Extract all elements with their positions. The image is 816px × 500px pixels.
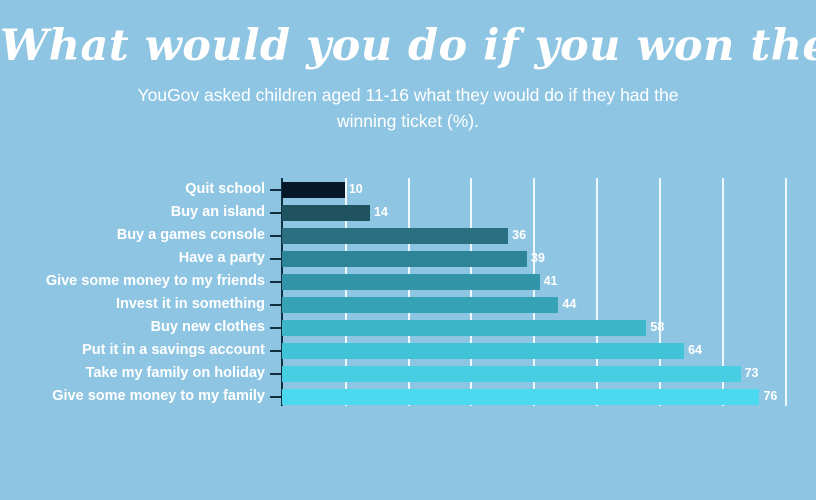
bar-value-label: 73 — [745, 367, 759, 380]
bar-chart-plot-area: Quit school10Buy an island14Buy a games … — [0, 172, 816, 412]
y-axis-tick — [270, 327, 282, 329]
y-axis-tick — [270, 350, 282, 352]
chart-subtitle: YouGov asked children aged 11-16 what th… — [108, 69, 708, 134]
bar-row: Invest it in something44 — [0, 293, 816, 316]
bar-value-label: 64 — [688, 344, 702, 357]
bar — [282, 274, 540, 290]
bar — [282, 389, 759, 405]
bar-container: 73 — [282, 362, 816, 385]
bar-category-label: Buy a games console — [0, 228, 265, 243]
bar-container: 44 — [282, 293, 816, 316]
bar-category-label: Take my family on holiday — [0, 366, 265, 381]
chart-header: What would you do if you won the lottery… — [0, 0, 816, 134]
bar-value-label: 41 — [544, 275, 558, 288]
bar-category-label: Give some money to my friends — [0, 274, 265, 289]
bar-container: 39 — [282, 247, 816, 270]
bar-container: 14 — [282, 201, 816, 224]
bar — [282, 366, 741, 382]
y-axis-tick — [270, 235, 282, 237]
bar-category-label: Buy an island — [0, 205, 265, 220]
bar — [282, 297, 558, 313]
bar-value-label: 36 — [512, 229, 526, 242]
y-axis-tick — [270, 258, 282, 260]
y-axis-tick — [270, 396, 282, 398]
y-axis-tick — [270, 212, 282, 214]
bar-row: Have a party39 — [0, 247, 816, 270]
bar-category-label: Quit school — [0, 182, 265, 197]
bar-container: 64 — [282, 339, 816, 362]
bar-value-label: 39 — [531, 252, 545, 265]
bar-container: 10 — [282, 178, 816, 201]
bar-row: Put it in a savings account64 — [0, 339, 816, 362]
bar — [282, 205, 370, 221]
bar-row: Buy new clothes58 — [0, 316, 816, 339]
bar — [282, 320, 646, 336]
y-axis-tick — [270, 281, 282, 283]
lottery-infographic: What would you do if you won the lottery… — [0, 0, 816, 500]
bar-rows: Quit school10Buy an island14Buy a games … — [0, 178, 816, 406]
bar-row: Quit school10 — [0, 178, 816, 201]
bar-category-label: Invest it in something — [0, 297, 265, 312]
bar-container: 76 — [282, 385, 816, 408]
bar — [282, 343, 684, 359]
bar-container: 36 — [282, 224, 816, 247]
bar — [282, 251, 527, 267]
bar-value-label: 58 — [650, 321, 664, 334]
page-title: What would you do if you won the lottery… — [0, 0, 816, 69]
bar-row: Buy a games console36 — [0, 224, 816, 247]
bar-value-label: 76 — [763, 390, 777, 403]
y-axis-tick — [270, 373, 282, 375]
y-axis-tick — [270, 189, 282, 191]
bar-value-label: 14 — [374, 206, 388, 219]
bar-category-label: Have a party — [0, 251, 265, 266]
bar-value-label: 10 — [349, 183, 363, 196]
y-axis-tick — [270, 304, 282, 306]
bar — [282, 182, 345, 198]
bar-row: Give some money to my friends41 — [0, 270, 816, 293]
bar-container: 58 — [282, 316, 816, 339]
bar-category-label: Give some money to my family — [0, 389, 265, 404]
bar-category-label: Buy new clothes — [0, 320, 265, 335]
bar-category-label: Put it in a savings account — [0, 343, 265, 358]
bar-row: Take my family on holiday73 — [0, 362, 816, 385]
bar-row: Give some money to my family76 — [0, 385, 816, 408]
bar — [282, 228, 508, 244]
bar-value-label: 44 — [562, 298, 576, 311]
bar-row: Buy an island14 — [0, 201, 816, 224]
bar-container: 41 — [282, 270, 816, 293]
